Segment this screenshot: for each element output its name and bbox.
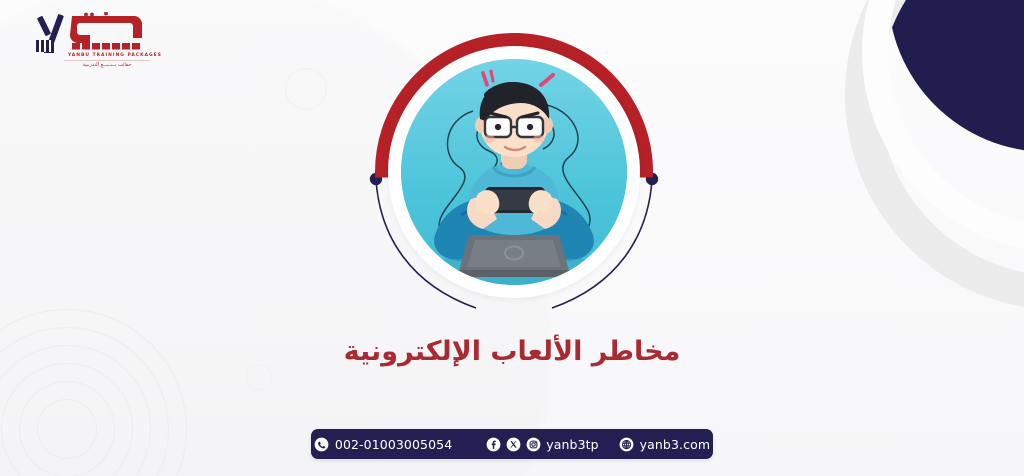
facebook-icon[interactable] (486, 437, 501, 452)
poster-canvas: YANBU TRAINING PACKAGES حقائب يــنــبــع… (0, 0, 1024, 476)
concentric-rings-decoration (0, 304, 192, 476)
logo-english-text: YANBU TRAINING PACKAGES (68, 53, 146, 58)
page-title: مخاطر الألعاب الإلكترونية (0, 336, 1024, 367)
x-twitter-icon[interactable] (506, 437, 521, 452)
illustration-image (401, 59, 627, 285)
brand-logo[interactable]: YANBU TRAINING PACKAGES حقائب يــنــبــع… (34, 12, 146, 78)
contact-website-group[interactable]: yanb3.com (619, 437, 710, 452)
globe-icon (619, 437, 634, 452)
contact-phone-number: 002-01003005054 (335, 437, 452, 452)
contact-social-handle: yanb3tp (546, 437, 598, 452)
logo-divider (64, 60, 150, 61)
instagram-icon[interactable] (526, 437, 541, 452)
logo-mark: YANBU TRAINING PACKAGES (34, 12, 146, 56)
contact-social-group[interactable]: yanb3tp (486, 437, 598, 452)
contact-bar: 002-01003005054 (311, 429, 713, 459)
contact-phone-group[interactable]: 002-01003005054 (314, 437, 452, 452)
faint-circle-decoration-2 (246, 364, 272, 390)
logo-arabic-wordmark-icon (34, 12, 146, 56)
whatsapp-icon (314, 437, 329, 452)
logo-arabic-subtitle: حقائب يــنــبــع التدريبية (64, 62, 150, 68)
faint-circle-decoration (285, 68, 327, 110)
contact-website-url: yanb3.com (640, 437, 710, 452)
illustration-container (366, 22, 662, 312)
